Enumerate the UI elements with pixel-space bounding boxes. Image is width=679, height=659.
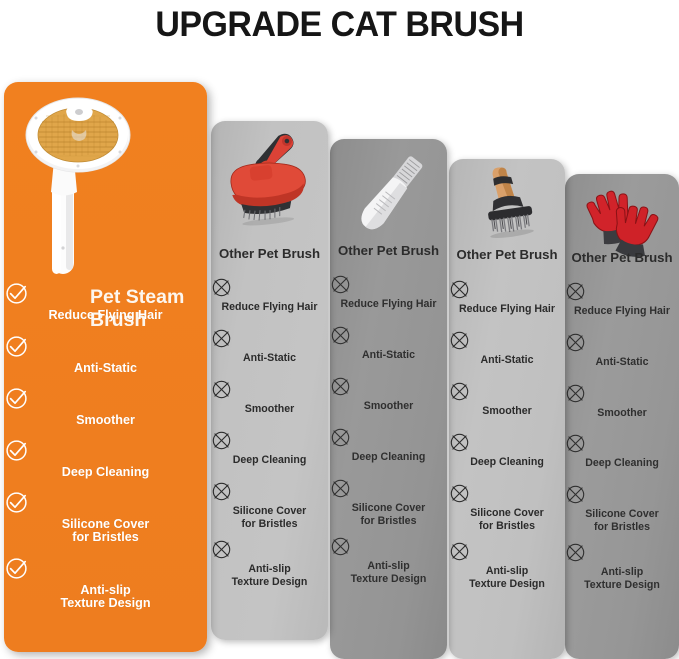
feature-row-reduce-flying-hair: Reduce Flying Hair	[211, 277, 328, 314]
feature-row-anti-static: Anti-Static	[565, 332, 679, 369]
feature-label: Anti-slip	[211, 563, 328, 576]
feature-label: Smoother	[4, 414, 207, 427]
feature-row-silicone-cover: Silicone Cover for Bristles	[330, 478, 447, 527]
feature-row-smoother: Smoother	[565, 383, 679, 420]
feature-row-reduce-flying-hair: Reduce Flying Hair	[449, 279, 565, 316]
feature-label: Anti-Static	[449, 354, 565, 367]
feature-label-line2: Texture Design	[211, 576, 328, 589]
feature-label: Reduce Flying Hair	[211, 301, 328, 314]
feature-label: Reduce Flying Hair	[4, 309, 207, 322]
x-circle-icon	[565, 484, 679, 505]
product-name-other-4: Other Pet Brush	[565, 250, 679, 265]
feature-row-anti-slip: Anti-slip Texture Design	[565, 542, 679, 591]
x-circle-icon	[330, 427, 447, 448]
x-circle-icon	[449, 381, 565, 402]
comparison-column-other-4[interactable]: Other Pet Brush Reduce Flying Hair Anti-…	[565, 174, 679, 659]
red-grooming-gloves-image	[571, 180, 673, 252]
feature-row-anti-slip: Anti-slip Texture Design	[330, 536, 447, 585]
check-circle-icon	[4, 438, 207, 463]
comparison-column-main[interactable]: Pet Steam Brush Reduce Flying Hair Anti-…	[4, 82, 207, 652]
feature-label-line2: for Bristles	[449, 520, 565, 533]
feature-label: Reduce Flying Hair	[330, 298, 447, 311]
check-circle-icon	[4, 334, 207, 359]
feature-label-line2: for Bristles	[565, 521, 679, 534]
feature-label: Anti-Static	[330, 349, 447, 362]
x-circle-icon	[449, 279, 565, 300]
feature-label: Deep Cleaning	[4, 466, 207, 479]
feature-label: Anti-Static	[4, 362, 207, 375]
x-circle-icon	[330, 325, 447, 346]
feature-label: Anti-slip	[449, 565, 565, 578]
x-circle-icon	[449, 483, 565, 504]
feature-label: Smoother	[330, 400, 447, 413]
x-circle-icon	[211, 379, 328, 400]
product-name-other-2: Other Pet Brush	[330, 243, 447, 258]
comparison-column-other-3[interactable]: Other Pet Brush Reduce Flying Hair Anti-…	[449, 159, 565, 659]
feature-row-anti-static: Anti-Static	[449, 330, 565, 367]
feature-row-smoother: Smoother	[449, 381, 565, 418]
x-circle-icon	[211, 430, 328, 451]
feature-row-deep-cleaning: Deep Cleaning	[211, 430, 328, 467]
product-name-other-1: Other Pet Brush	[211, 246, 328, 261]
check-circle-icon	[4, 490, 207, 515]
feature-label: Anti-Static	[565, 356, 679, 369]
feature-row-anti-static: Anti-Static	[330, 325, 447, 362]
feature-row-silicone-cover: Silicone Cover for Bristles	[4, 490, 207, 543]
x-circle-icon	[211, 277, 328, 298]
feature-row-smoother: Smoother	[330, 376, 447, 413]
red-slicker-brush-image	[219, 129, 321, 233]
feature-label: Smoother	[565, 407, 679, 420]
x-circle-icon	[449, 541, 565, 562]
x-circle-icon	[330, 376, 447, 397]
x-circle-icon	[565, 433, 679, 454]
feature-row-deep-cleaning: Deep Cleaning	[330, 427, 447, 464]
check-circle-icon	[4, 386, 207, 411]
feature-label: Anti-slip	[565, 566, 679, 579]
feature-row-anti-slip: Anti-slip Texture Design	[211, 539, 328, 588]
feature-row-anti-static: Anti-Static	[4, 334, 207, 375]
wood-handle-dematting-rake-image	[467, 163, 549, 247]
feature-row-smoother: Smoother	[211, 379, 328, 416]
feature-label: Smoother	[449, 405, 565, 418]
feature-row-reduce-flying-hair: Reduce Flying Hair	[4, 281, 207, 322]
check-circle-icon	[4, 556, 207, 581]
feature-label-line2: Texture Design	[4, 597, 207, 610]
feature-label: Reduce Flying Hair	[449, 303, 565, 316]
x-circle-icon	[330, 478, 447, 499]
product-name-other-3: Other Pet Brush	[449, 247, 565, 262]
white-flea-comb-image	[346, 145, 434, 243]
feature-row-anti-slip: Anti-slip Texture Design	[449, 541, 565, 590]
x-circle-icon	[565, 281, 679, 302]
feature-row-reduce-flying-hair: Reduce Flying Hair	[330, 274, 447, 311]
feature-label: Anti-Static	[211, 352, 328, 365]
feature-row-silicone-cover: Silicone Cover for Bristles	[449, 483, 565, 532]
white-steam-brush-image	[16, 90, 142, 280]
feature-label-line2: Texture Design	[565, 579, 679, 592]
feature-label-line2: Texture Design	[449, 578, 565, 591]
x-circle-icon	[211, 539, 328, 560]
feature-label: Deep Cleaning	[330, 451, 447, 464]
feature-row-smoother: Smoother	[4, 386, 207, 427]
feature-row-anti-static: Anti-Static	[211, 328, 328, 365]
check-circle-icon	[4, 281, 207, 306]
feature-label-line2: for Bristles	[211, 518, 328, 531]
feature-label: Silicone Cover	[4, 518, 207, 531]
feature-label: Deep Cleaning	[449, 456, 565, 469]
feature-label: Reduce Flying Hair	[565, 305, 679, 318]
feature-row-anti-slip: Anti-slip Texture Design	[4, 556, 207, 609]
feature-row-deep-cleaning: Deep Cleaning	[4, 438, 207, 479]
x-circle-icon	[449, 330, 565, 351]
feature-label: Silicone Cover	[330, 502, 447, 515]
feature-label-line2: for Bristles	[330, 515, 447, 528]
page-title: UPGRADE CAT BRUSH	[10, 0, 669, 47]
feature-row-deep-cleaning: Deep Cleaning	[449, 432, 565, 469]
feature-row-silicone-cover: Silicone Cover for Bristles	[211, 481, 328, 530]
x-circle-icon	[211, 328, 328, 349]
feature-label: Deep Cleaning	[565, 457, 679, 470]
x-circle-icon	[211, 481, 328, 502]
x-circle-icon	[565, 542, 679, 563]
feature-label-line2: for Bristles	[4, 531, 207, 544]
feature-row-reduce-flying-hair: Reduce Flying Hair	[565, 281, 679, 318]
comparison-column-other-1[interactable]: Other Pet Brush Reduce Flying Hair Anti-…	[211, 121, 328, 640]
feature-label-line2: Texture Design	[330, 573, 447, 586]
feature-label: Silicone Cover	[449, 507, 565, 520]
x-circle-icon	[565, 383, 679, 404]
x-circle-icon	[565, 332, 679, 353]
x-circle-icon	[330, 536, 447, 557]
feature-row-deep-cleaning: Deep Cleaning	[565, 433, 679, 470]
feature-label: Deep Cleaning	[211, 454, 328, 467]
feature-label: Anti-slip	[4, 584, 207, 597]
feature-label: Smoother	[211, 403, 328, 416]
x-circle-icon	[449, 432, 565, 453]
x-circle-icon	[330, 274, 447, 295]
comparison-board: UPGRADE CAT BRUSH Other Pet Brush	[0, 0, 679, 659]
feature-row-silicone-cover: Silicone Cover for Bristles	[565, 484, 679, 533]
feature-label: Silicone Cover	[565, 508, 679, 521]
feature-label: Anti-slip	[330, 560, 447, 573]
feature-label: Silicone Cover	[211, 505, 328, 518]
comparison-column-other-2[interactable]: Other Pet Brush Reduce Flying Hair Anti-…	[330, 139, 447, 659]
